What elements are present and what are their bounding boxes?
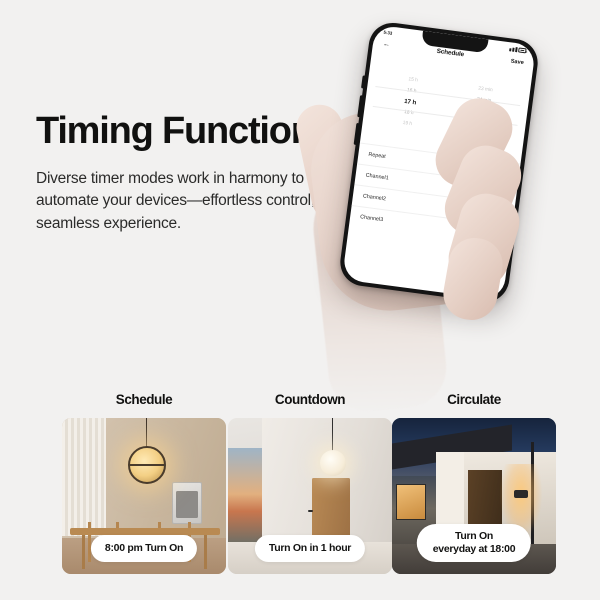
table-leg-shape: [82, 535, 85, 569]
globe-lamp-icon: [320, 450, 346, 476]
card-title: Circulate: [392, 392, 556, 407]
card-pill-label: 8:00 pm Turn On: [91, 535, 197, 562]
card-title: Schedule: [62, 392, 226, 407]
phone-mute-switch: [361, 75, 366, 88]
card-image-exterior-dusk: Turn On everyday at 18:00: [392, 418, 556, 574]
row-label: Channel3: [360, 214, 384, 223]
card-pill-label: Turn On everyday at 18:00: [417, 524, 531, 562]
hour-option-selected[interactable]: 17 h: [404, 97, 417, 106]
card-schedule[interactable]: Schedule 8:00 pm Turn On: [62, 392, 226, 574]
pendant-cord-shape: [146, 418, 147, 448]
card-countdown[interactable]: Countdown Turn On in 1 hour: [228, 392, 392, 574]
minute-option[interactable]: 23 min: [478, 86, 493, 94]
sunset-window-shape: [228, 448, 262, 544]
hour-option[interactable]: 16 h: [407, 87, 417, 94]
phone-volume-up-button: [357, 95, 363, 117]
pendant-cord-shape: [332, 418, 333, 452]
lit-window-shape: [396, 484, 426, 520]
arrow-left-icon[interactable]: ←: [383, 41, 391, 49]
card-title: Countdown: [228, 392, 392, 407]
wall-sconce-icon: [514, 490, 528, 498]
curtain-shape: [62, 418, 106, 536]
row-label: Channel2: [363, 193, 387, 202]
pill-line-1: Turn On: [455, 530, 493, 542]
pendant-lamp-icon: [128, 446, 166, 484]
card-image-dining-room: 8:00 pm Turn On: [62, 418, 226, 574]
feature-cards: Schedule 8:00 pm Turn On Countdown: [0, 392, 600, 600]
hour-option[interactable]: 15 h: [408, 77, 418, 84]
card-pill-label: Turn On in 1 hour: [255, 535, 365, 562]
hand-holding-phone-illustration: 5:33 ← Schedule Save 15 h 16 h 17 h: [268, 20, 600, 400]
pill-line-2: everyday at 18:00: [433, 543, 515, 555]
table-leg-shape: [204, 535, 207, 569]
card-image-entry-hall: Turn On in 1 hour: [228, 418, 392, 574]
hour-option[interactable]: 19 h: [402, 120, 412, 127]
hour-option[interactable]: 18 h: [404, 109, 414, 116]
hours-wheel[interactable]: 15 h 16 h 17 h 18 h 19 h: [368, 54, 452, 149]
row-label: Channel1: [365, 173, 389, 182]
card-circulate[interactable]: Circulate Turn On everyday at 18:00: [392, 392, 556, 574]
save-button[interactable]: Save: [510, 58, 524, 66]
door-handle-shape: [308, 510, 313, 512]
row-label: Repeat: [368, 152, 386, 160]
oven-shape: [172, 482, 202, 524]
